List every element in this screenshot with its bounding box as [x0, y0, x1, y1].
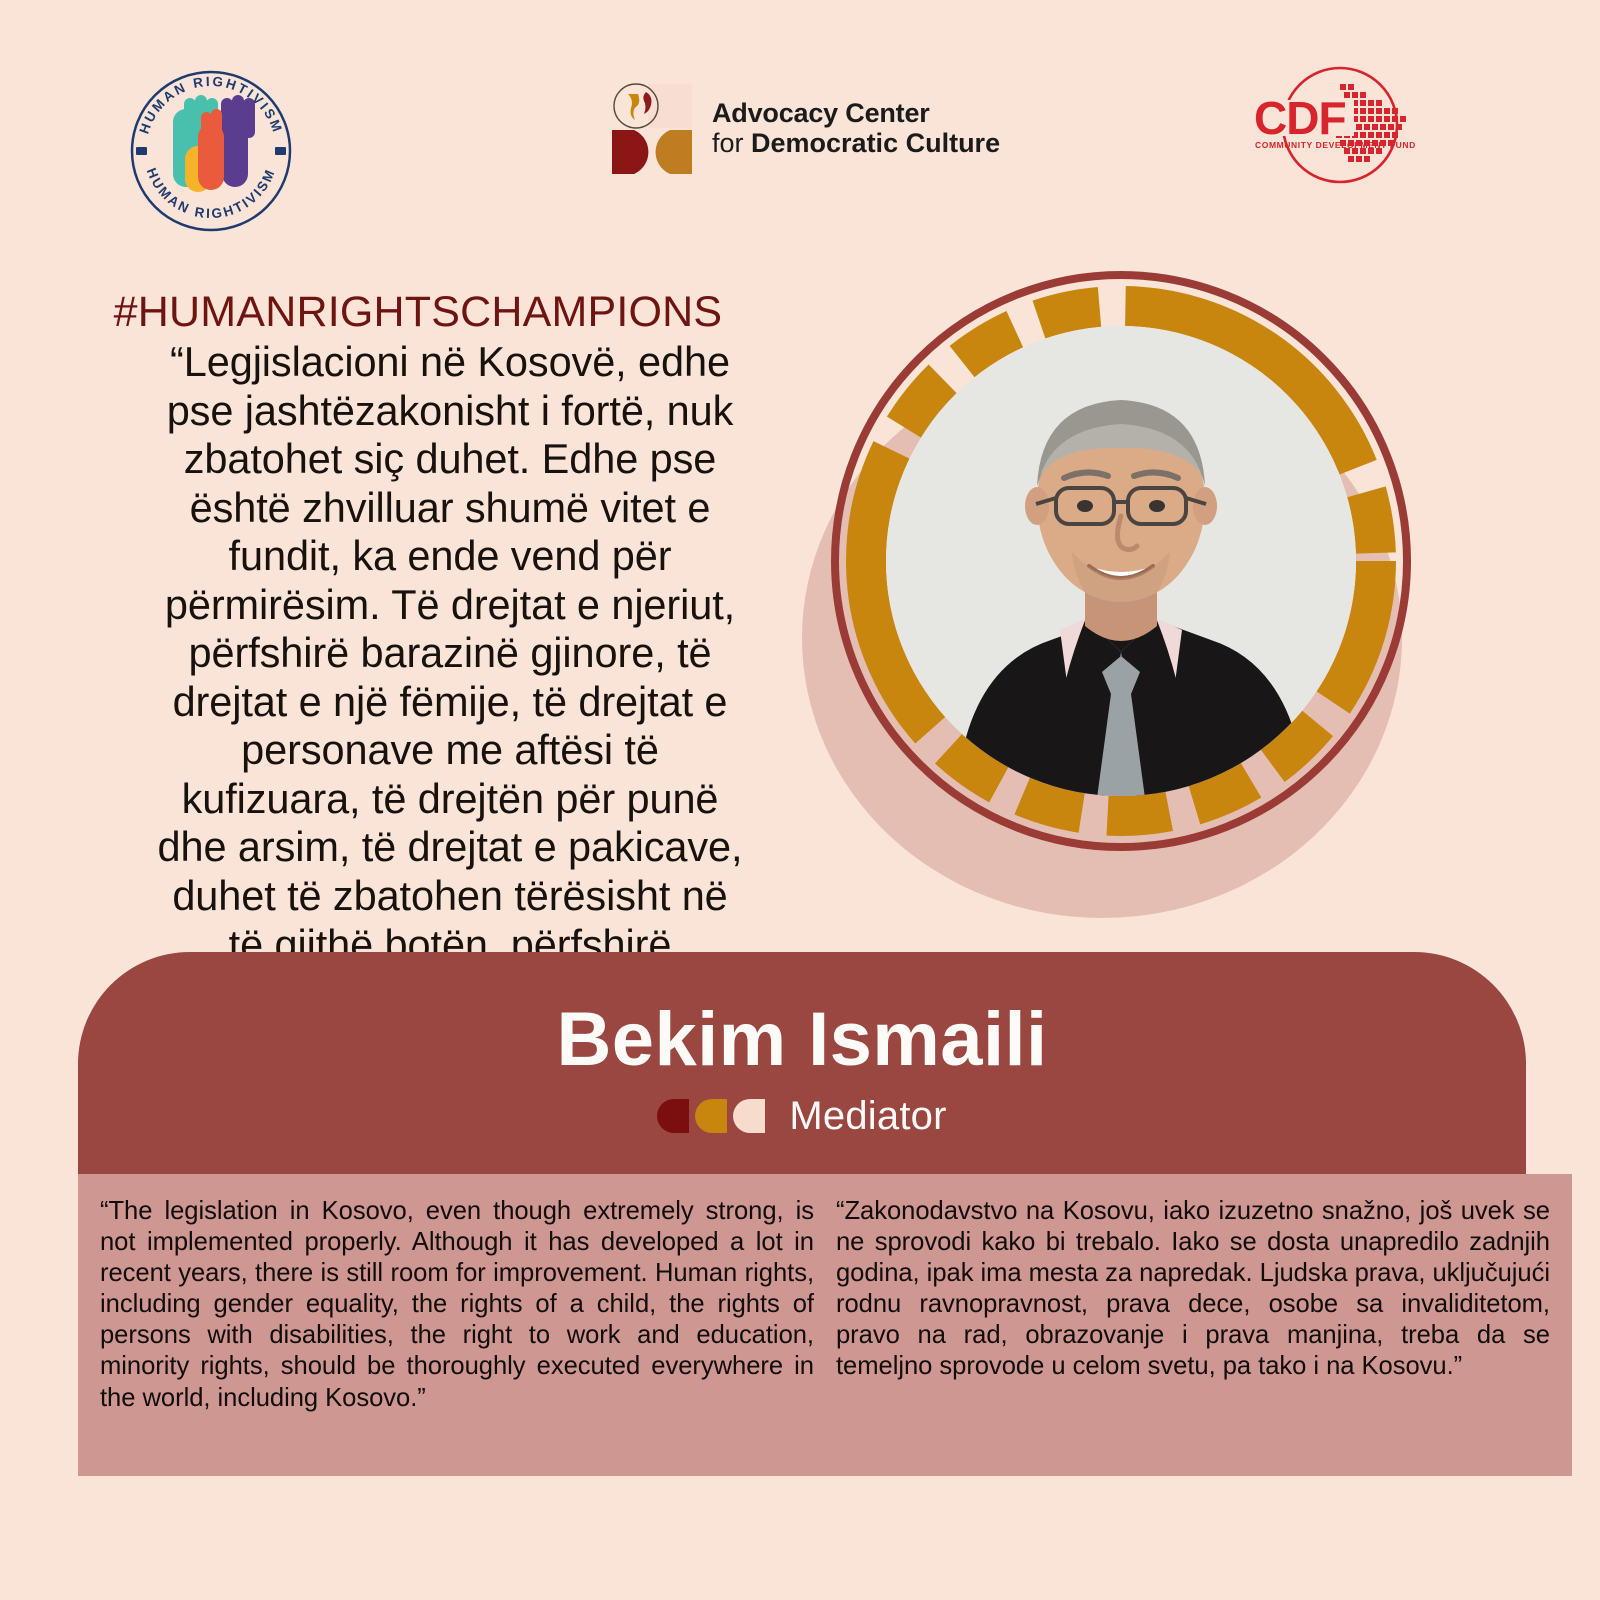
- cdf-acronym: CDF: [1254, 92, 1346, 144]
- role-decorative-dots: [657, 1099, 765, 1133]
- acdc-line-2: for Democratic Culture: [712, 128, 1000, 158]
- role-row: Mediator: [657, 1094, 946, 1139]
- advocacy-center-logo: Advocacy Center for Democratic Culture: [600, 80, 1000, 176]
- poster-canvas: HUMAN RIGHTIVISM HUMAN RIGHTIVISM Advoc: [0, 0, 1600, 1600]
- cdf-logo: CDF COMMUNITY DEVELOPMENT FUND: [1222, 62, 1452, 188]
- quote-albanian: “Legjislacioni në Kosovë, edhe pse jasht…: [150, 338, 750, 1018]
- name-banner: Bekim Ismaili Mediator: [78, 952, 1526, 1174]
- acdc-wordmark: Advocacy Center for Democratic Culture: [712, 98, 1000, 158]
- person-role: Mediator: [789, 1094, 946, 1139]
- portrait-container: [790, 258, 1440, 918]
- person-name: Bekim Ismaili: [557, 1002, 1048, 1078]
- acdc-line-2-bold: Democratic Culture: [751, 128, 1000, 158]
- portrait-photo: [886, 326, 1356, 796]
- logo-row: HUMAN RIGHTIVISM HUMAN RIGHTIVISM Advoc: [0, 0, 1600, 230]
- cdf-subtitle: COMMUNITY DEVELOPMENT FUND: [1255, 140, 1416, 150]
- human-rightivism-logo: HUMAN RIGHTIVISM HUMAN RIGHTIVISM: [122, 62, 300, 240]
- acdc-line-2-prefix: for: [712, 128, 751, 158]
- role-dot-1: [657, 1099, 689, 1133]
- translations-panel: “The legislation in Kosovo, even though …: [78, 1174, 1572, 1476]
- campaign-hashtag: #HUMANRIGHTSCHAMPIONS: [78, 288, 758, 337]
- role-dot-2: [695, 1099, 727, 1133]
- role-dot-3: [733, 1099, 765, 1133]
- quote-serbian: “Zakonodavstvo na Kosovu, iako izuzetno …: [836, 1196, 1550, 1476]
- acdc-monogram-icon: [600, 80, 696, 176]
- quote-english: “The legislation in Kosovo, even though …: [100, 1196, 814, 1476]
- acdc-line-1: Advocacy Center: [712, 98, 1000, 128]
